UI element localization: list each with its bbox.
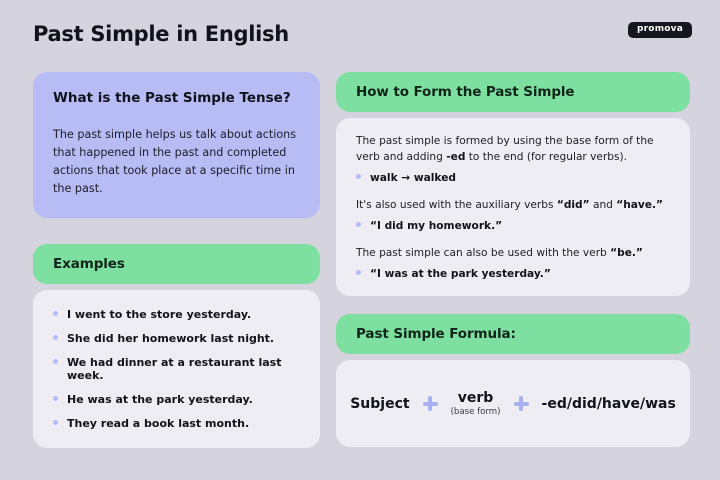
plus-icon: [423, 396, 438, 411]
example-text: We had dinner at a restaurant last week.: [67, 356, 300, 382]
bullet-dot-icon: [356, 222, 361, 227]
examples-header: Examples: [33, 244, 320, 284]
page-title: Past Simple in English: [33, 22, 289, 46]
brand-logo: promova: [628, 22, 692, 38]
formula-verb-group: verb (base form): [451, 391, 501, 417]
bullet-dot-icon: [356, 174, 361, 179]
formation-p2-bold: “did”: [557, 199, 590, 211]
formation-header-label: How to Form the Past Simple: [356, 84, 574, 100]
formation-header: How to Form the Past Simple: [336, 72, 690, 112]
bullet-dot-icon: [53, 420, 58, 425]
list-item: They read a book last month.: [53, 417, 300, 430]
examples-card: I went to the store yesterday. She did h…: [33, 290, 320, 448]
list-item: He was at the park yesterday.: [53, 393, 300, 406]
list-item: I went to the store yesterday.: [53, 308, 300, 321]
formation-p3-pre: The past simple can also be used with th…: [356, 247, 610, 259]
formula-subject: Subject: [350, 396, 409, 412]
formation-example-3: “I was at the park yesterday.”: [356, 268, 670, 280]
definition-card: What is the Past Simple Tense? The past …: [33, 72, 320, 218]
formation-p3-bold: “be.”: [610, 247, 643, 259]
formation-paragraph-1: The past simple is formed by using the b…: [356, 133, 670, 165]
definition-heading: What is the Past Simple Tense?: [53, 90, 300, 108]
example-text: I went to the store yesterday.: [67, 308, 251, 321]
bullet-dot-icon: [53, 359, 58, 364]
formation-example-text: “I was at the park yesterday.”: [370, 268, 551, 280]
bullet-dot-icon: [53, 396, 58, 401]
bullet-dot-icon: [53, 311, 58, 316]
list-item: We had dinner at a restaurant last week.: [53, 356, 300, 382]
formation-example-text: walk → walked: [370, 172, 456, 184]
formula-verb-note: (base form): [451, 408, 501, 417]
formation-p2-bold2: “have.”: [616, 199, 663, 211]
formation-example-text: “I did my homework.”: [370, 220, 502, 232]
formula-header: Past Simple Formula:: [336, 314, 690, 354]
formation-paragraph-2: It's also used with the auxiliary verbs …: [356, 197, 670, 213]
formation-example-1: walk → walked: [356, 172, 670, 184]
left-column: What is the Past Simple Tense? The past …: [33, 72, 320, 448]
formation-card: The past simple is formed by using the b…: [336, 118, 690, 296]
formula-tail: -ed/did/have/was: [542, 396, 676, 412]
formula-row: Subject verb (base form) -ed/did/have/wa…: [350, 391, 676, 417]
formation-p2-mid: and: [590, 199, 617, 211]
example-text: She did her homework last night.: [67, 332, 274, 345]
example-text: They read a book last month.: [67, 417, 249, 430]
examples-header-label: Examples: [53, 256, 125, 272]
list-item: She did her homework last night.: [53, 332, 300, 345]
example-text: He was at the park yesterday.: [67, 393, 253, 406]
bullet-dot-icon: [53, 335, 58, 340]
bullet-dot-icon: [356, 270, 361, 275]
formation-p1-post: to the end (for regular verbs).: [465, 151, 627, 163]
formula-card: Subject verb (base form) -ed/did/have/wa…: [336, 360, 690, 447]
formula-header-label: Past Simple Formula:: [356, 326, 516, 342]
definition-body: The past simple helps us talk about acti…: [53, 126, 300, 199]
right-column: How to Form the Past Simple The past sim…: [336, 72, 690, 447]
formation-p2-pre: It's also used with the auxiliary verbs: [356, 199, 557, 211]
formation-p1-bold: -ed: [446, 151, 465, 163]
infographic-page: Past Simple in English promova What is t…: [0, 0, 720, 480]
plus-icon: [514, 396, 529, 411]
formation-paragraph-3: The past simple can also be used with th…: [356, 245, 670, 261]
formation-example-2: “I did my homework.”: [356, 220, 670, 232]
formula-verb: verb: [451, 391, 501, 406]
